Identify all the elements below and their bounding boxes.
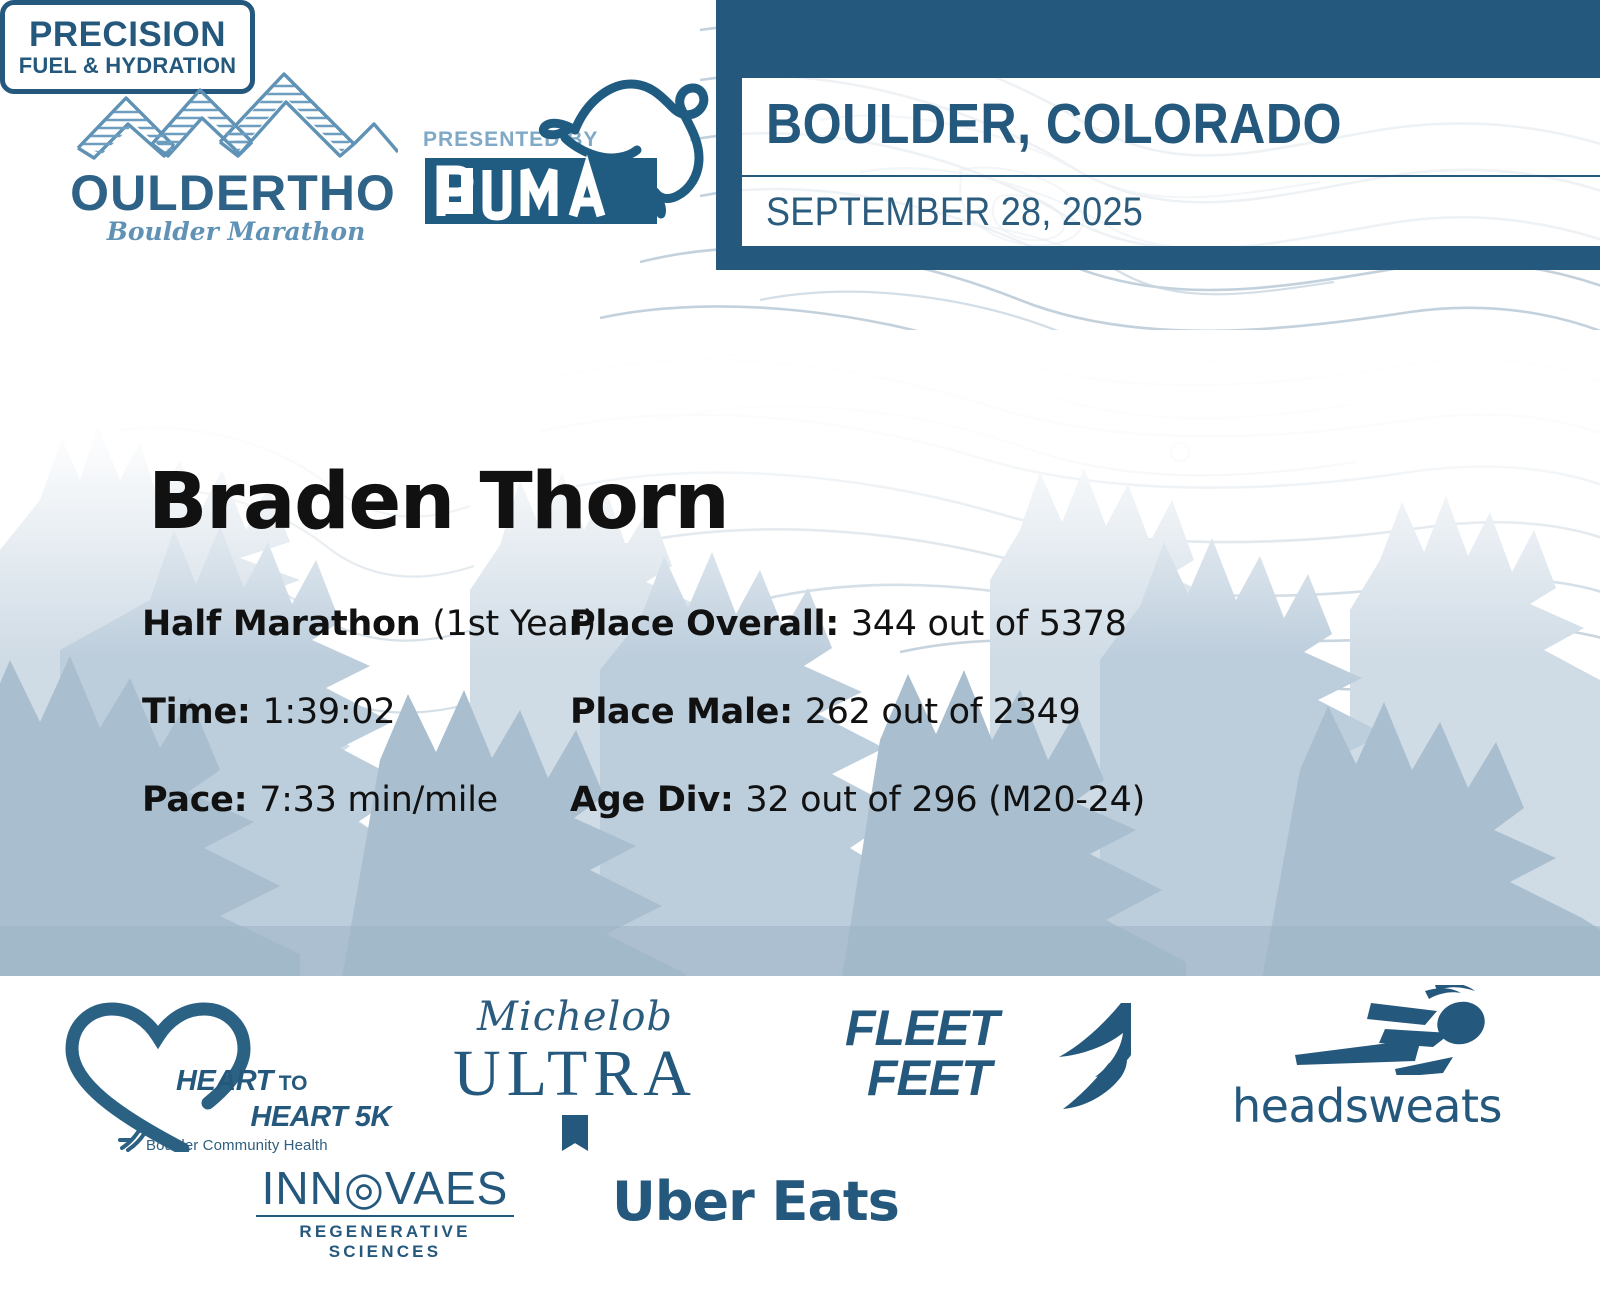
sponsor-michelob-ultra: Michelob ULTRA	[440, 995, 710, 1160]
time-label: Time:	[142, 692, 262, 732]
puma-presented-by-logo: PRESENTED BY	[415, 72, 715, 232]
h2h-line2: HEART 5K	[176, 1100, 391, 1134]
place-overall-line: Place Overall: 344 out of 5378	[570, 580, 1262, 668]
results-stats: Half Marathon (1st Year) Place Overall: …	[0, 580, 1600, 844]
age-div-line: Age Div: 32 out of 296 (M20-24)	[570, 756, 1262, 844]
fleet-feet-wing-icon	[1041, 997, 1131, 1117]
race-type-label: Half Marathon	[142, 604, 432, 644]
age-div-label: Age Div:	[570, 780, 745, 820]
innovaes-subtitle: REGENERATIVE SCIENCES	[240, 1222, 530, 1262]
stats-row-1: Half Marathon (1st Year) Place Overall: …	[0, 580, 1600, 668]
innovaes-divider	[256, 1215, 514, 1217]
event-banner: BOULDER, COLORADO SEPTEMBER 28, 2025	[716, 0, 1600, 270]
banner-top-bar	[716, 0, 1600, 78]
stats-column-right-3: Age Div: 32 out of 296 (M20-24)	[562, 756, 1262, 844]
pace-label: Pace:	[142, 780, 259, 820]
sponsor-fleet-feet: FLEET FEET	[845, 1003, 1115, 1123]
stats-column-left-3: Pace: 7:33 min/mile	[0, 756, 562, 844]
michelob-script: Michelob	[440, 995, 710, 1039]
boulderthon-wordmark: BOULDERTHON	[68, 165, 398, 221]
pace-line: Pace: 7:33 min/mile	[142, 756, 562, 844]
heart-to-heart-subtitle: Boulder Community Health	[146, 1137, 328, 1154]
stats-column-right-2: Place Male: 262 out of 2349	[562, 668, 1262, 756]
sponsor-uber-eats: Uber Eats	[612, 1171, 952, 1241]
innovaes-wordmark: INN◎VAES	[240, 1163, 530, 1213]
place-male-line: Place Male: 262 out of 2349	[570, 668, 1262, 756]
stats-column-right: Place Overall: 344 out of 5378	[562, 580, 1262, 668]
stats-row-3: Pace: 7:33 min/mile Age Div: 32 out of 2…	[0, 756, 1600, 844]
headsweats-wordmark: headsweats	[1222, 1080, 1512, 1132]
runner-block: Braden Thorn	[0, 455, 1450, 549]
boulderthon-tagline: Boulder Marathon	[106, 217, 366, 246]
sponsor-headsweats: headsweats	[1222, 985, 1512, 1135]
h2h-line1-small: TO	[273, 1072, 308, 1095]
sponsor-logos: HEART TO HEART 5K Boulder Community Heal…	[0, 985, 1600, 1309]
place-male-label: Place Male:	[570, 692, 805, 732]
bch-mark-icon	[118, 1130, 148, 1152]
place-overall-value: 344 out of 5378	[851, 604, 1127, 644]
boulderthon-logo: BOULDERTHON Boulder Marathon	[68, 62, 398, 247]
race-result-certificate: BOULDERTHON Boulder Marathon PRESENTED B…	[0, 0, 1600, 1309]
banner-left-edge	[716, 0, 742, 270]
place-male-value: 262 out of 2349	[805, 692, 1081, 732]
stats-row-2: Time: 1:39:02 Place Male: 262 out of 234…	[0, 668, 1600, 756]
pace-value: 7:33 min/mile	[259, 780, 498, 820]
time-value: 1:39:02	[262, 692, 395, 732]
place-overall-label: Place Overall:	[570, 604, 851, 644]
headsweats-speed-head-icon	[1275, 985, 1505, 1075]
sponsor-heart-to-heart-5k: HEART TO HEART 5K Boulder Community Heal…	[58, 997, 358, 1152]
stats-column-left: Half Marathon (1st Year)	[0, 580, 562, 668]
h2h-line1-main: HEART	[176, 1065, 273, 1097]
stats-column-left-2: Time: 1:39:02	[0, 668, 562, 756]
event-location: BOULDER, COLORADO	[766, 88, 1382, 160]
heart-to-heart-wordmark: HEART TO HEART 5K	[176, 1065, 391, 1134]
event-date: SEPTEMBER 28, 2025	[766, 184, 1396, 240]
banner-bottom-bar	[716, 246, 1600, 270]
age-div-value: 32 out of 296 (M20-24)	[745, 780, 1145, 820]
ultra-wordmark: ULTRA	[440, 1039, 710, 1109]
race-type-line: Half Marathon (1st Year)	[142, 580, 562, 668]
banner-divider	[742, 175, 1600, 177]
time-line: Time: 1:39:02	[142, 668, 562, 756]
sponsor-innovaes: INN◎VAES REGENERATIVE SCIENCES	[240, 1163, 530, 1253]
uber-eats-wordmark: Uber Eats	[612, 1171, 952, 1233]
runner-name: Braden Thorn	[148, 455, 1450, 549]
michelob-ribbon-icon	[562, 1115, 588, 1151]
